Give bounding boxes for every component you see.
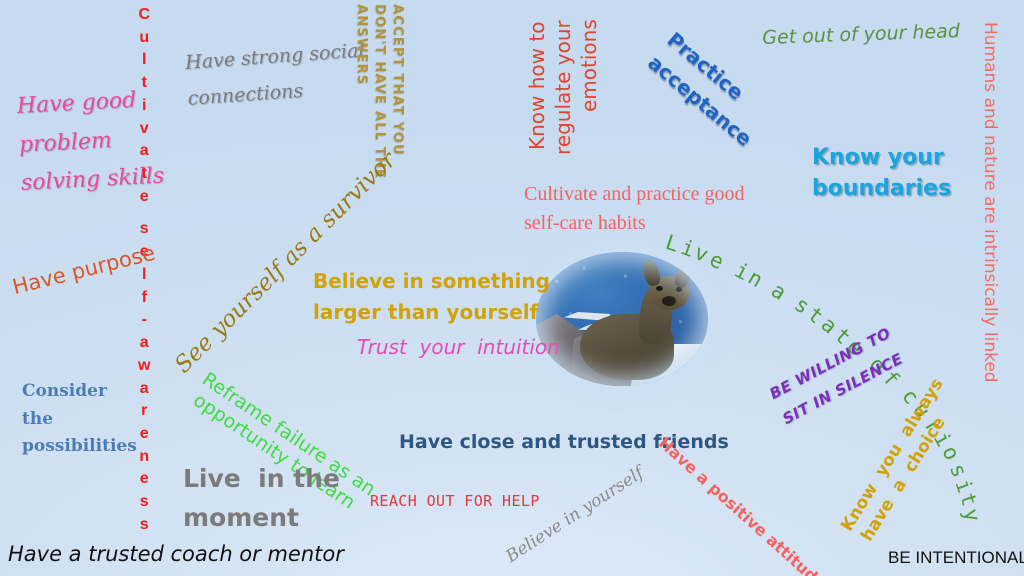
vletter: a xyxy=(140,332,149,355)
vletter: v xyxy=(140,118,149,141)
vletter: a xyxy=(140,378,149,401)
vletter: - xyxy=(142,309,147,332)
phrase-believe-in-yourself: Believe in yourself xyxy=(503,464,648,567)
phrase-accept-that-you: ACCEPT THAT YOU xyxy=(389,4,404,156)
arc-letter: a xyxy=(767,278,791,305)
vletter: r xyxy=(141,400,147,423)
phrase-have-a-trusted-coach-or-mentor: Have a trusted coach or mentor xyxy=(8,542,344,566)
vletter: w xyxy=(138,355,150,378)
vletter: e xyxy=(140,423,149,446)
phrase-have-strong-social-connections: Have strong social connections xyxy=(184,32,368,117)
vletter: l xyxy=(142,49,146,72)
vletter: u xyxy=(139,27,149,50)
vletter: n xyxy=(139,446,149,469)
phrase-emotions: emotions xyxy=(578,19,601,112)
vletter: f xyxy=(142,287,147,310)
arc-letter: y xyxy=(959,506,985,524)
phrase-believe-in-something-larger-than-yourself: Believe in something larger than yoursel… xyxy=(313,266,550,328)
phrase-be-intentional: BE INTENTIONAL xyxy=(888,548,1024,568)
vletter: s xyxy=(140,218,149,241)
vletter: e xyxy=(140,468,149,491)
vletter: a xyxy=(140,140,149,163)
vletter: i xyxy=(142,95,146,118)
phrase-cultivate-self-awareness: C u l t i v a t e s e l f - a w a r e n … xyxy=(138,4,150,537)
vletter: t xyxy=(142,72,147,95)
phrase-have-a-positive-attitude: Have a positive attitude xyxy=(655,434,829,576)
vletter: t xyxy=(142,163,147,186)
vletter: s xyxy=(140,514,149,537)
resilience-word-collage: Have good problem solving skills C u l t… xyxy=(0,0,1024,576)
phrase-trust-your-intuition: Trust your intuition xyxy=(357,336,560,359)
phrase-know-your-boundaries: Know your boundaries xyxy=(812,143,951,205)
phrase-reach-out-for-help: REACH OUT FOR HELP xyxy=(370,493,540,510)
phrase-answers: ANSWERS xyxy=(353,4,368,85)
phrase-know-how-to: Know how to xyxy=(526,22,549,150)
phrase-get-out-of-your-head: Get out of your head xyxy=(762,21,960,50)
phrase-practice-acceptance: Practice acceptance xyxy=(641,25,777,153)
vletter: C xyxy=(138,4,150,27)
vletter: e xyxy=(140,186,149,209)
phrase-live-in-a-state-of-curiosity: L i v e i n a s t a t e o f c u r i o s … xyxy=(668,218,988,368)
phrase-consider-the-possibilities: Consider the possibilities xyxy=(22,378,137,461)
phrase-live-in-the-moment: Live in the moment xyxy=(183,460,340,538)
vletter: s xyxy=(140,491,149,514)
phrase-regulate-your: regulate your xyxy=(552,20,575,155)
phrase-have-purpose: Have purpose xyxy=(10,241,158,300)
